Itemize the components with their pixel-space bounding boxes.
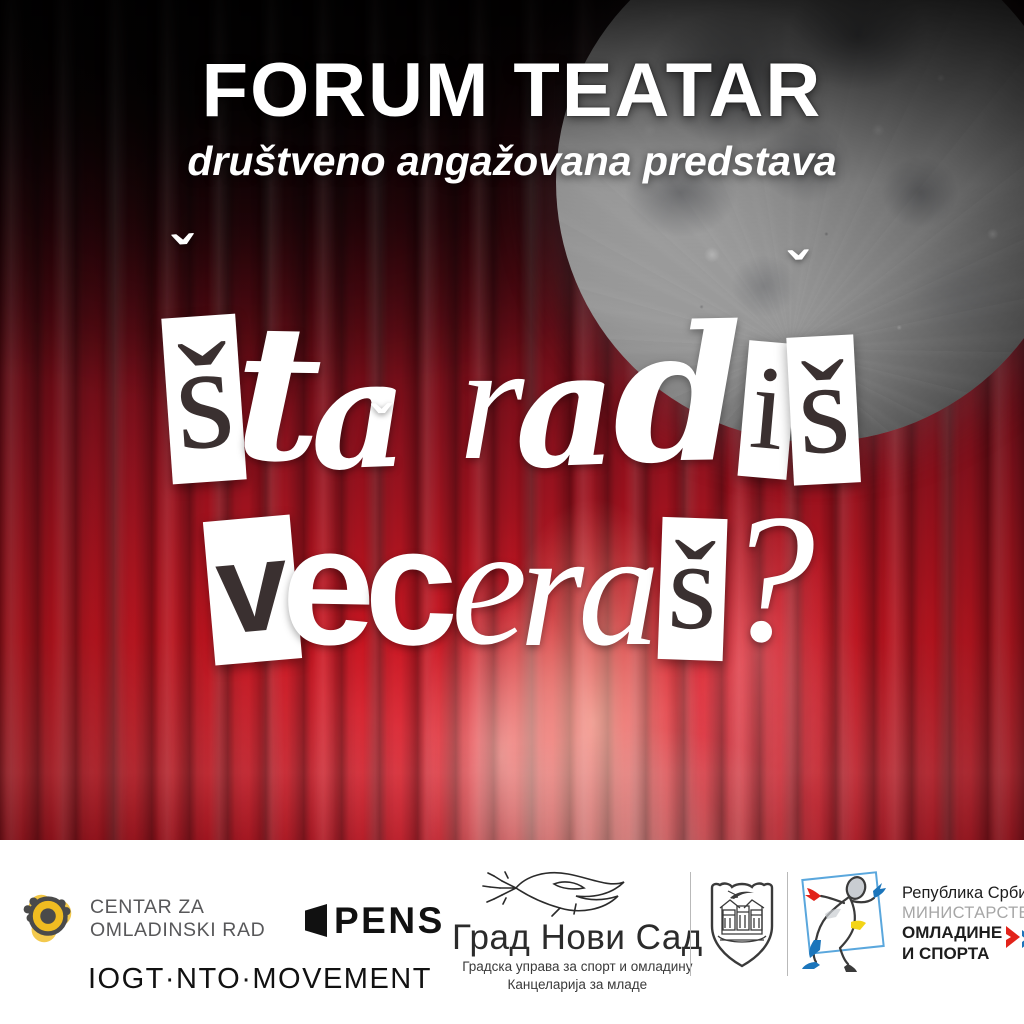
shield-coat-of-arms-icon <box>706 878 778 970</box>
ransom-letter-?: ? <box>723 486 815 670</box>
ransom-letter-d: d <box>611 301 744 489</box>
iogt-label: IOGT·NTO·MOVEMENT <box>88 963 432 996</box>
cor-line-2: OMLADINSKI RAD <box>90 919 265 942</box>
logo-ministry-of-youth-and-sports: Република Србија МИНИСТАРСТВО ОМЛАДИНЕ И… <box>794 870 1024 978</box>
ransom-title-line-1: šˇtaradišˇ <box>0 312 1024 482</box>
ransom-row: vecˇeraš? <box>0 492 1024 662</box>
footer-logo-bar: CENTAR ZA OMLADINSKI RAD PENS IOGT·NTO·M… <box>0 840 1024 1024</box>
cor-label: CENTAR ZA OMLADINSKI RAD <box>90 896 265 942</box>
footer-divider-2 <box>787 872 788 976</box>
logo-city-coat-of-arms <box>706 878 778 970</box>
caron-accent-icon: ˇ <box>370 398 390 456</box>
runner-figure-icon <box>794 870 898 978</box>
ransom-letter-š: šˇ <box>786 334 861 485</box>
logo-grad-novi-sad: Град Нови Сад Градска управа за спорт и … <box>452 868 703 994</box>
flower-gear-icon <box>18 888 80 950</box>
headline-block: FORUM TEATAR društveno angažovana predst… <box>0 52 1024 185</box>
logo-pens: PENS <box>305 902 445 939</box>
ransom-letter-c: cˇ <box>362 501 458 671</box>
ransom-row: šˇtaradišˇ <box>0 312 1024 482</box>
gns-subtitle-2: Канцеларија за младе <box>508 976 648 994</box>
ransom-letter-a: a <box>307 338 409 491</box>
cor-line-1: CENTAR ZA <box>90 896 265 919</box>
gns-subtitle-1: Градска управа за спорт и омладину <box>462 958 692 976</box>
ransom-letter-š: š <box>658 517 728 661</box>
caron-accent-icon: ˇ <box>788 245 810 304</box>
caron-accent-icon: ˇ <box>171 228 196 291</box>
ransom-letter-e: e <box>451 500 527 672</box>
pens-label: PENS <box>334 902 445 939</box>
poster-subtitle: društveno angažovana predstava <box>0 138 1024 185</box>
chevron-double-right-icon <box>1002 922 1024 952</box>
ransom-letter-a: a <box>512 330 620 491</box>
logo-centar-za-omladinski-rad: CENTAR ZA OMLADINSKI RAD <box>18 888 265 950</box>
pens-wedge-icon <box>305 904 327 937</box>
ransom-title-line-2: vecˇeraš? <box>0 492 1024 662</box>
ransom-letter-r: r <box>519 506 584 672</box>
ministry-line-2: МИНИСТАРСТВО <box>902 903 1024 923</box>
ransom-letter-a: a <box>578 508 660 672</box>
footer-divider-1 <box>690 872 691 976</box>
poster-root: FORUM TEATAR društveno angažovana predst… <box>0 0 1024 1024</box>
poster-title: FORUM TEATAR <box>0 52 1024 130</box>
logo-iogt-nto-movement: IOGT·NTO·MOVEMENT <box>88 963 432 996</box>
ministry-line-1: Република Србија <box>902 883 1024 903</box>
dove-olive-branch-icon <box>472 868 682 922</box>
gns-title: Град Нови Сад <box>452 920 703 955</box>
